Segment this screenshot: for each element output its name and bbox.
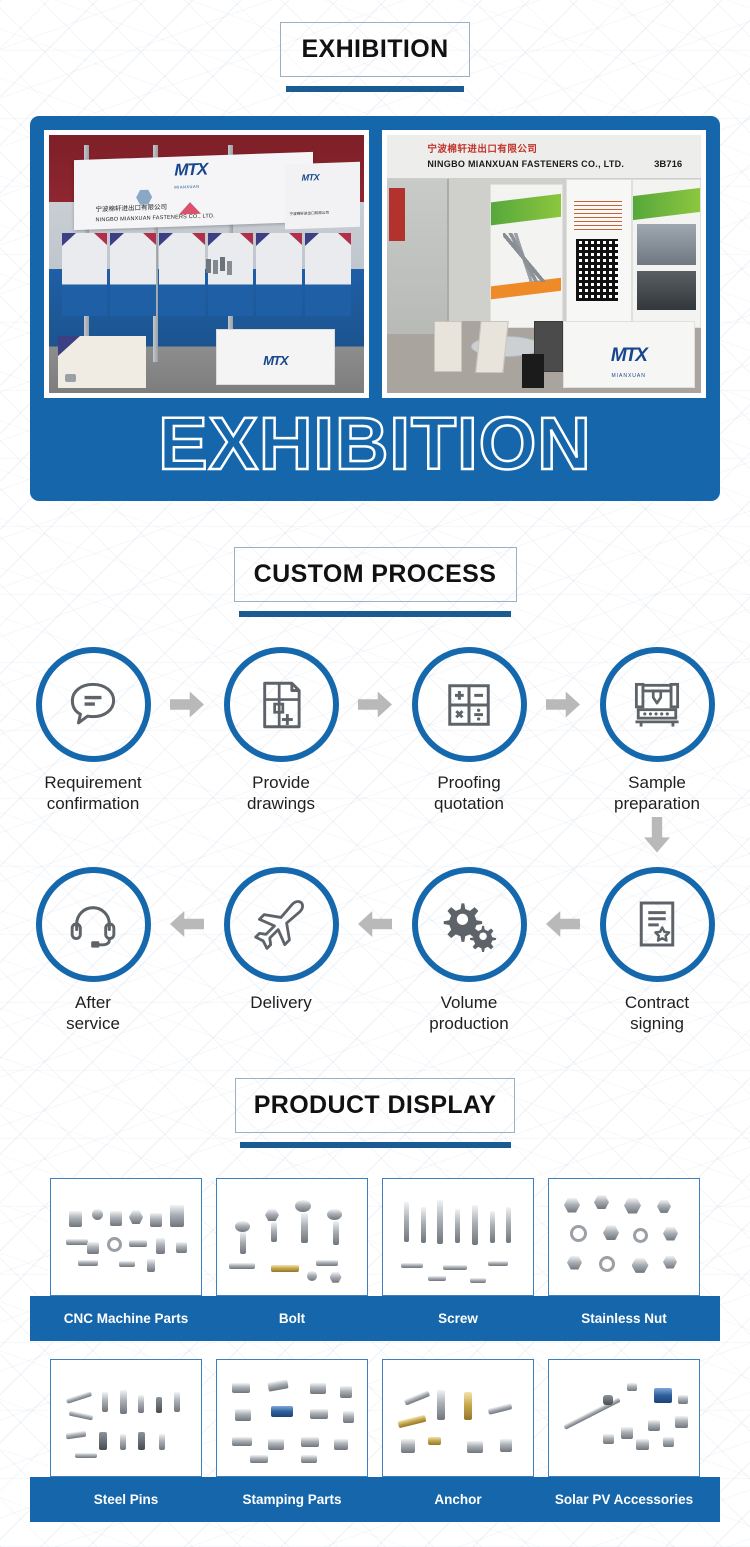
screw-photo: [383, 1179, 533, 1295]
counter-logo-subtext: MIANXUAN: [611, 373, 645, 379]
process-icon-circle: [36, 867, 151, 982]
process-step-label: Volume production: [429, 992, 508, 1035]
heading-underline: [286, 86, 464, 92]
product-image-card: [548, 1178, 700, 1296]
heading-box: EXHIBITION: [280, 22, 470, 77]
process-icon-circle: [224, 867, 339, 982]
process-arrow-right: [542, 647, 584, 762]
process-step-sample-preparation[interactable]: Sample preparation: [584, 647, 730, 815]
process-icon-circle: [224, 647, 339, 762]
booth-chair: [475, 321, 509, 373]
product-row-1: CNC Machine Parts: [0, 1178, 750, 1341]
custom-process-flow: Requirement confirmation Provide drawi: [0, 647, 750, 1034]
process-step-delivery[interactable]: Delivery: [208, 867, 354, 1013]
process-step-label: Delivery: [250, 992, 311, 1013]
product-image-card: [216, 1359, 368, 1477]
process-step-requirement-confirmation[interactable]: Requirement confirmation: [20, 647, 166, 815]
brand-logo-text-secondary: MTX: [301, 173, 319, 184]
section-title: CUSTOM PROCESS: [254, 560, 497, 589]
product-label: Anchor: [434, 1477, 481, 1522]
stainless-nut-photo: [549, 1179, 699, 1295]
sign-company-cn: 宁波棉轩进出口有限公司: [427, 141, 537, 155]
product-label: Screw: [438, 1296, 478, 1341]
heading-underline: [240, 1142, 511, 1148]
product-detail-page: EXHIBITION MTX MIANXUAN 宁波棉轩进出口有限公司 NING: [0, 0, 750, 1522]
brand-logo-text: MTX: [175, 159, 208, 180]
page-title: EXHIBITION: [301, 35, 448, 64]
process-arrow-down: [644, 817, 670, 853]
product-item-anchor[interactable]: Anchor: [382, 1359, 534, 1522]
process-step-contract-signing[interactable]: Contract signing: [584, 867, 730, 1035]
process-step-label: After service: [66, 992, 120, 1035]
process-step-label: Sample preparation: [614, 772, 700, 815]
brand-logo-subtext: MIANXUAN: [175, 183, 200, 189]
heading-box: CUSTOM PROCESS: [234, 547, 517, 602]
product-label: Stamping Parts: [242, 1477, 341, 1522]
product-item-stainless-nut[interactable]: Stainless Nut: [548, 1178, 700, 1341]
section-heading-exhibition: EXHIBITION: [0, 0, 750, 92]
heading-underline: [239, 611, 511, 617]
triangle-graphic: [179, 201, 201, 214]
product-row-2: Steel Pins: [0, 1359, 750, 1522]
product-item-cnc-machine-parts[interactable]: CNC Machine Parts: [50, 1178, 202, 1341]
counter-logo: MTX: [263, 353, 287, 368]
banner-company-cn-secondary: 宁波棉轩进出口有限公司: [289, 211, 329, 217]
speech-bubble-icon: [63, 675, 123, 735]
booth-number: 3B716: [654, 159, 682, 170]
product-image-card: [216, 1178, 368, 1296]
steel-pins-photo: [51, 1360, 201, 1476]
banner-company-cn: 宁波棉轩进出口有限公司: [96, 201, 168, 213]
exhibition-photo-row: MTX MIANXUAN 宁波棉轩进出口有限公司 NINGBO MIANXUAN…: [44, 130, 706, 398]
process-arrow-left: [166, 867, 208, 982]
product-label: Solar PV Accessories: [555, 1477, 693, 1522]
cnc-machine-icon: [627, 675, 687, 735]
process-arrow-right: [354, 647, 396, 762]
booth-counter: MTX MIANXUAN: [563, 321, 695, 388]
process-step-volume-production[interactable]: Volume production: [396, 867, 542, 1035]
process-arrow-left: [542, 867, 584, 982]
process-arrow-right: [166, 647, 208, 762]
process-step-label: Provide drawings: [247, 772, 315, 815]
booth-easel-board: [58, 336, 146, 388]
booth-counter: MTX: [216, 329, 336, 386]
process-icon-circle: [600, 647, 715, 762]
gears-icon: [439, 894, 499, 954]
booth-sign-header: 宁波棉轩进出口有限公司 NINGBO MIANXUAN FASTENERS CO…: [387, 135, 702, 179]
poster-stand-bolts: [490, 184, 562, 328]
product-image-card: [382, 1178, 534, 1296]
process-step-label: Proofing quotation: [434, 772, 504, 815]
booth-bin: [522, 354, 544, 388]
booth-photo-wide: MTX MIANXUAN 宁波棉轩进出口有限公司 NINGBO MIANXUAN…: [49, 135, 364, 393]
counter-logo: MTX: [611, 345, 647, 367]
process-row-2: After service Delivery: [0, 867, 750, 1035]
booth-photo-signage: 宁波棉轩进出口有限公司 NINGBO MIANXUAN FASTENERS CO…: [387, 135, 702, 393]
section-heading-product-display: PRODUCT DISPLAY: [0, 1078, 750, 1148]
solar-pv-accessories-photo: [549, 1360, 699, 1476]
cnc-parts-photo: [51, 1179, 201, 1295]
certificate-icon: [629, 896, 685, 952]
headset-icon: [64, 895, 122, 953]
process-arrow-left: [354, 867, 396, 982]
booth-chair: [434, 321, 462, 373]
product-item-solar-pv-accessories[interactable]: Solar PV Accessories: [548, 1359, 700, 1522]
product-label: Bolt: [279, 1296, 305, 1341]
process-step-after-service[interactable]: After service: [20, 867, 166, 1035]
poster-stand-factory: [632, 179, 701, 329]
booth-top-banner: MTX MIANXUAN 宁波棉轩进出口有限公司 NINGBO MIANXUAN…: [74, 151, 313, 229]
qr-code-graphic: [576, 239, 618, 301]
heading-box: PRODUCT DISPLAY: [235, 1078, 515, 1133]
process-row-1: Requirement confirmation Provide drawi: [0, 647, 750, 815]
booth-left-wall: [387, 179, 450, 334]
product-image-card: [548, 1359, 700, 1477]
exhibition-outline-text: EXHIBITION: [158, 407, 591, 481]
product-label: Steel Pins: [94, 1477, 159, 1522]
exhibition-outline-wordmark: EXHIBITION: [44, 398, 706, 501]
exhibition-photo-2[interactable]: 宁波棉轩进出口有限公司 NINGBO MIANXUAN FASTENERS CO…: [382, 130, 707, 398]
product-item-screw[interactable]: Screw: [382, 1178, 534, 1341]
bolt-photo: [217, 1179, 367, 1295]
product-display-panels: [62, 233, 351, 316]
product-label: CNC Machine Parts: [64, 1296, 189, 1341]
blueprint-drawing-icon: [252, 676, 310, 734]
process-step-label: Contract signing: [625, 992, 689, 1035]
process-icon-circle: [412, 867, 527, 982]
process-icon-circle: [412, 647, 527, 762]
display-parts: [206, 259, 211, 273]
banner-company-en: NINGBO MIANXUAN FASTENERS CO., LTD.: [96, 213, 215, 223]
anchor-photo: [383, 1360, 533, 1476]
calculator-icon: [441, 677, 497, 733]
process-icon-circle: [36, 647, 151, 762]
stamping-parts-photo: [217, 1360, 367, 1476]
product-image-card: [382, 1359, 534, 1477]
product-display-grid: CNC Machine Parts: [0, 1178, 750, 1522]
poster-stand-qr: [566, 179, 632, 329]
product-item-stamping-parts[interactable]: Stamping Parts: [216, 1359, 368, 1522]
process-step-proofing-quotation[interactable]: Proofing quotation: [396, 647, 542, 815]
process-icon-circle: [600, 867, 715, 982]
product-image-card: [50, 1359, 202, 1477]
product-image-card: [50, 1178, 202, 1296]
section-heading-custom-process: CUSTOM PROCESS: [0, 547, 750, 617]
process-arrow-down-wrapper: [30, 817, 720, 853]
section-title: PRODUCT DISPLAY: [254, 1091, 497, 1120]
airplane-icon: [251, 894, 311, 954]
sign-company-en: NINGBO MIANXUAN FASTENERS CO., LTD.: [427, 159, 624, 169]
process-step-provide-drawings[interactable]: Provide drawings: [208, 647, 354, 815]
exhibition-photo-1[interactable]: MTX MIANXUAN 宁波棉轩进出口有限公司 NINGBO MIANXUAN…: [44, 130, 369, 398]
product-item-bolt[interactable]: Bolt: [216, 1178, 368, 1341]
product-label: Stainless Nut: [581, 1296, 667, 1341]
product-item-steel-pins[interactable]: Steel Pins: [50, 1359, 202, 1522]
process-step-label: Requirement confirmation: [44, 772, 141, 815]
booth-top-banner-secondary: MTX 宁波棉轩进出口有限公司: [285, 162, 360, 229]
exhibition-banner: MTX MIANXUAN 宁波棉轩进出口有限公司 NINGBO MIANXUAN…: [30, 116, 720, 501]
